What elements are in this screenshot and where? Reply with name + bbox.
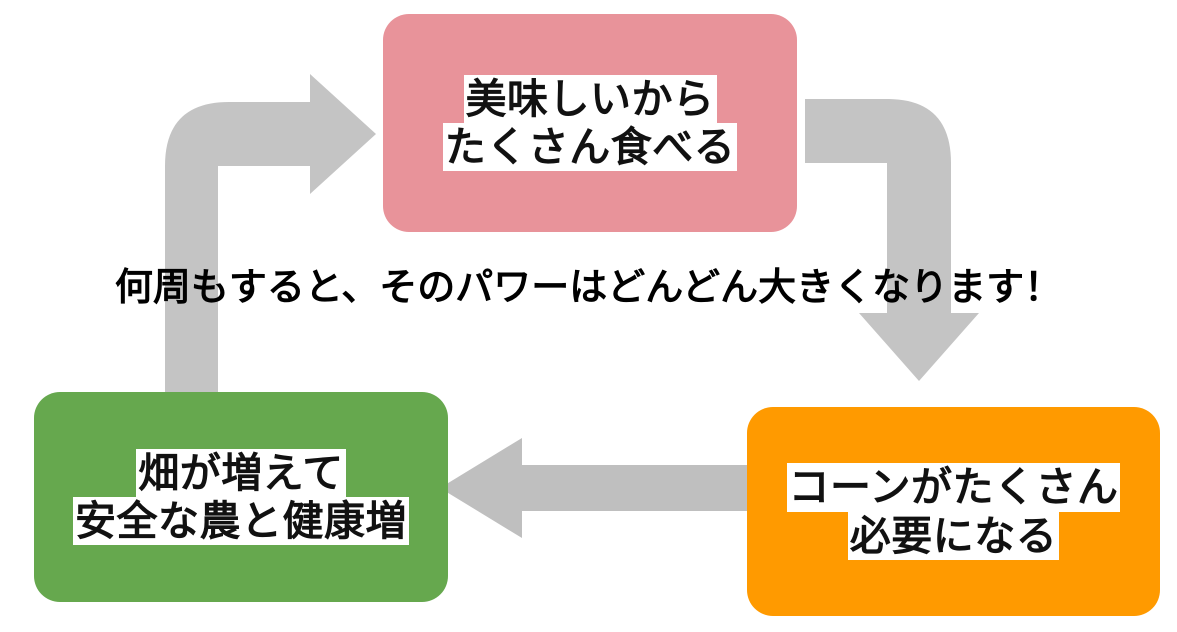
node-fields-increase-line-2: 安全な農と健康増	[73, 497, 409, 545]
node-corn-needed-line-2: 必要になる	[848, 512, 1060, 560]
arrow-orange-to-green	[440, 438, 748, 538]
node-fields-increase[interactable]: 畑が増えて 安全な農と健康増	[34, 392, 448, 602]
diagram-canvas: 美味しいから たくさん食べる コーンがたくさん 必要になる 畑が増えて 安全な農…	[0, 0, 1177, 632]
node-corn-needed-line-1: コーンがたくさん	[787, 463, 1121, 511]
arrow-pink-to-orange	[805, 85, 965, 415]
diagram-caption: 何周もすると、そのパワーはどんどん大きくなります！	[0, 256, 1177, 311]
node-corn-needed[interactable]: コーンがたくさん 必要になる	[747, 407, 1160, 616]
node-delicious-line-2: たくさん食べる	[443, 123, 738, 171]
node-fields-increase-line-1: 畑が増えて	[136, 449, 345, 497]
node-delicious[interactable]: 美味しいから たくさん食べる	[383, 14, 797, 232]
node-delicious-line-1: 美味しいから	[464, 75, 717, 123]
arrow-green-to-pink	[150, 88, 385, 398]
